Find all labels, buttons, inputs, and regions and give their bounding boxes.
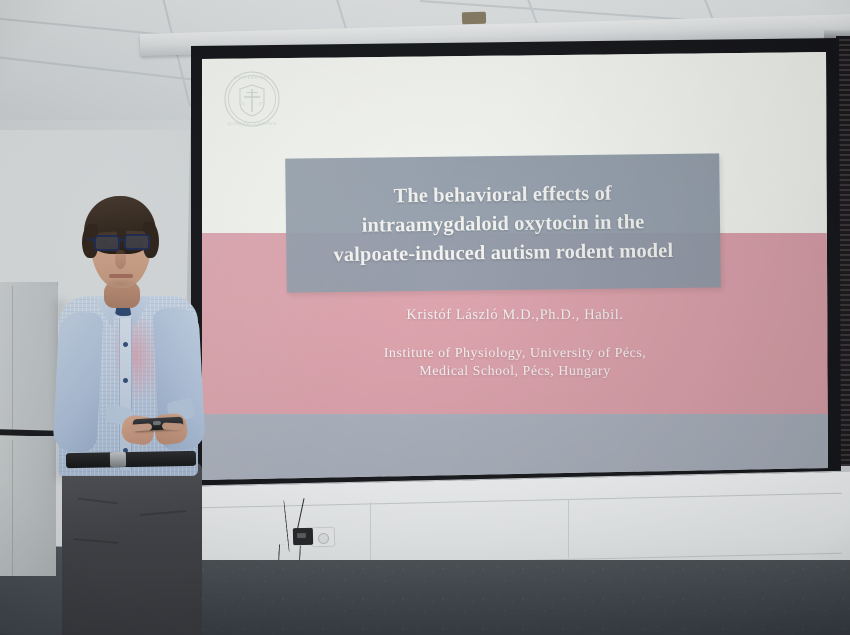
presenter-left-arm <box>52 311 103 453</box>
shirt-button <box>123 342 128 347</box>
eyeglasses-bridge <box>119 239 125 241</box>
clicker-button[interactable] <box>153 421 161 425</box>
shirt-button <box>123 378 128 383</box>
presenter-fingers-right <box>162 422 184 430</box>
eyeglasses-lens-right <box>124 234 150 250</box>
presenter-belt <box>66 451 196 468</box>
room-scene: UNIVERSITAS QUINQUEECCLESIENSIS 13 67 Th… <box>0 0 850 635</box>
presenter-nose <box>115 250 126 269</box>
eyeglasses-lens-left <box>94 235 120 251</box>
presenter-chin-shading <box>103 278 139 290</box>
belt-buckle <box>110 452 126 467</box>
presenter <box>0 0 850 635</box>
presenter-trousers <box>62 462 202 635</box>
